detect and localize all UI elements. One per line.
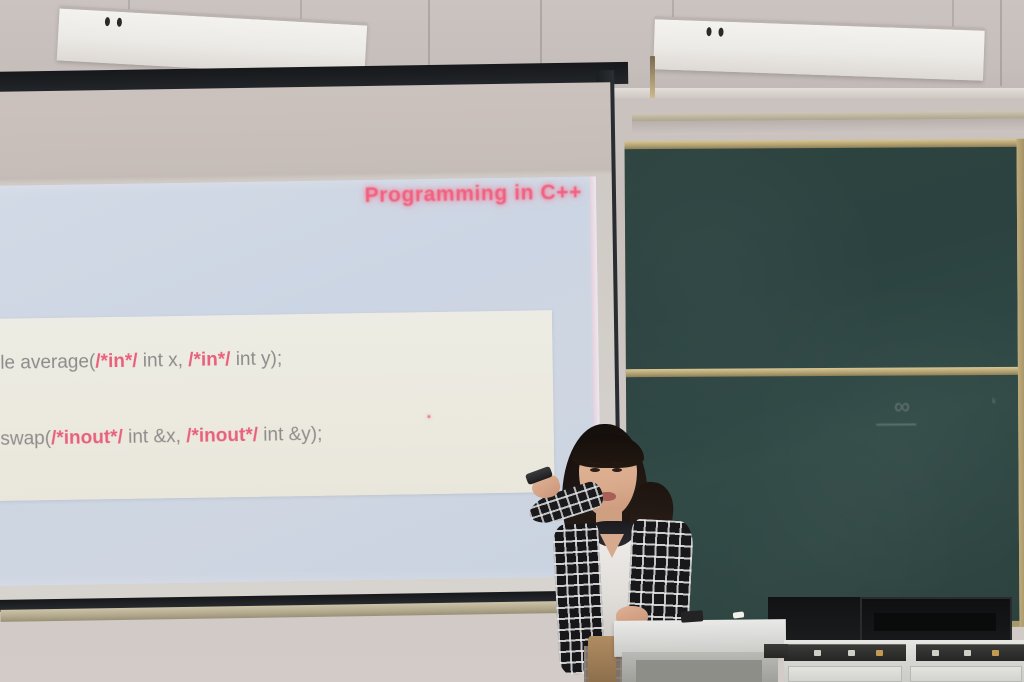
slide-code-box: ouble average(/*in*/ int x, /*in*/ int y… bbox=[0, 310, 555, 501]
background-object bbox=[588, 636, 616, 682]
code-line-swap: oid swap(/*inout*/ int &x, /*inout*/ int… bbox=[0, 424, 323, 452]
code-seg-highlight: /*inout*/ bbox=[186, 425, 258, 447]
console-led bbox=[992, 650, 999, 656]
slide-title: Programming in C++ bbox=[364, 181, 582, 208]
code-seg-highlight: /*in*/ bbox=[188, 349, 231, 371]
console-drawer-right[interactable] bbox=[910, 666, 1022, 682]
monitor-screen bbox=[874, 613, 996, 631]
presenter-brow-right bbox=[611, 462, 623, 464]
console-led bbox=[876, 650, 883, 656]
console-panel-left[interactable] bbox=[784, 644, 906, 661]
projected-slide: Programming in C++ ouble average(/*in*/ … bbox=[0, 176, 602, 586]
chalk-mark-smudge bbox=[876, 423, 916, 425]
presenter-eye-right bbox=[612, 468, 622, 472]
wall-ledge-shadow bbox=[632, 119, 1024, 136]
code-line-average: ouble average(/*in*/ int x, /*in*/ int y… bbox=[0, 348, 282, 375]
chalk-mark-1: ∞ bbox=[894, 393, 910, 419]
console-led bbox=[964, 650, 971, 656]
console-led bbox=[814, 650, 821, 656]
presenter-eye-left bbox=[590, 468, 600, 472]
light-dot bbox=[117, 18, 122, 27]
code-seg: oid swap( bbox=[0, 428, 51, 450]
console-led bbox=[932, 650, 939, 656]
wall-seam-3 bbox=[1000, 0, 1002, 86]
light-dot bbox=[718, 27, 723, 36]
light-dot bbox=[706, 27, 711, 36]
remote-on-desk[interactable] bbox=[681, 610, 704, 623]
podium-shelf bbox=[636, 660, 762, 682]
av-console[interactable] bbox=[784, 640, 1024, 682]
light-rod-right-b bbox=[952, 0, 954, 28]
monitor[interactable] bbox=[860, 597, 1012, 645]
code-seg: int &x, bbox=[123, 426, 187, 448]
chalk-mark-2: ᵏ bbox=[992, 397, 996, 409]
console-drawer-left[interactable] bbox=[788, 666, 902, 682]
code-seg: ouble average( bbox=[0, 351, 95, 374]
code-seg: int y); bbox=[230, 348, 282, 370]
code-seg-highlight: /*in*/ bbox=[95, 351, 138, 373]
light-dot bbox=[105, 17, 110, 26]
lecture-hall-scene: Programming in C++ ouble average(/*in*/ … bbox=[0, 0, 1024, 682]
console-led bbox=[848, 650, 855, 656]
console-panel-far-left[interactable] bbox=[764, 644, 788, 658]
console-panel-right[interactable] bbox=[916, 644, 1024, 661]
code-seg: int &y); bbox=[258, 424, 323, 446]
code-seg-highlight: /*inout*/ bbox=[51, 427, 123, 449]
presenter-brow-left bbox=[589, 462, 601, 464]
laser-pointer-dot bbox=[427, 415, 430, 418]
code-seg: int x, bbox=[137, 350, 188, 372]
screen-hook bbox=[650, 56, 655, 98]
